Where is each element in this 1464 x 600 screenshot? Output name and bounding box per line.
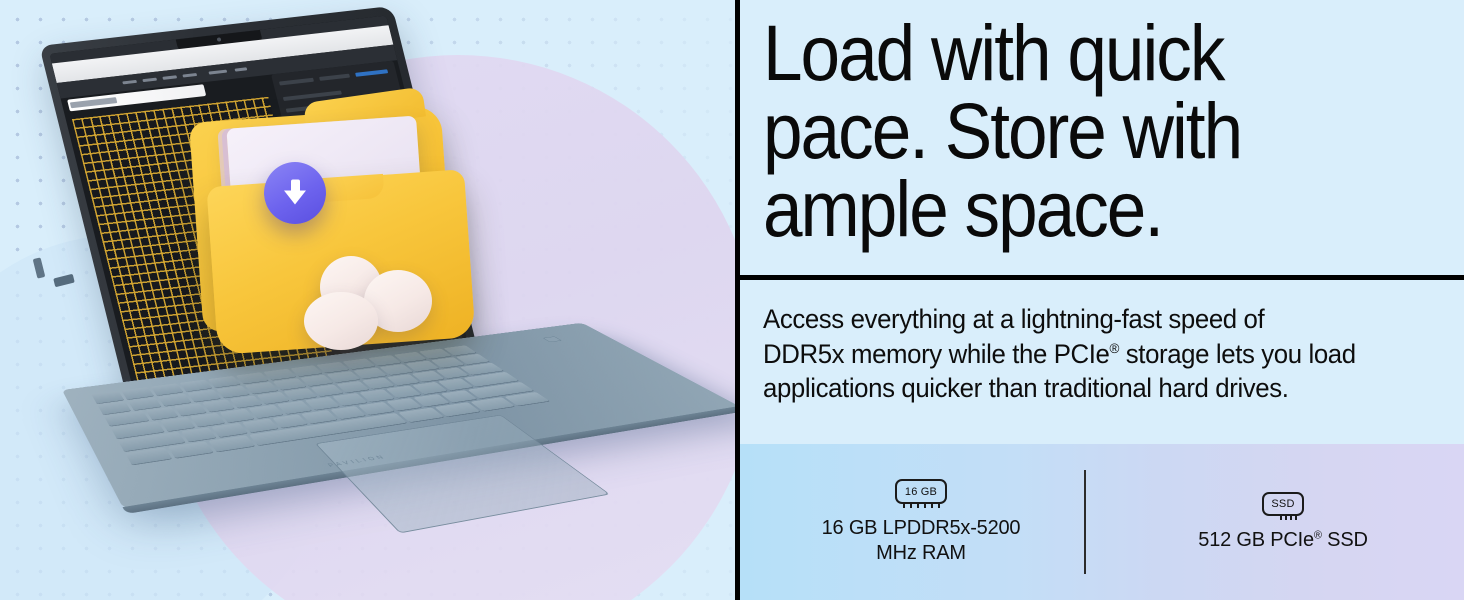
spec-vertical-divider	[1084, 470, 1086, 574]
page-title: Load with quick pace. Store with ample s…	[763, 14, 1241, 249]
spec-storage-label-part2: SSD	[1322, 529, 1368, 551]
memory-module-icon: 16 GB	[895, 479, 947, 504]
cloud-icon	[304, 256, 436, 352]
spec-highlights-strip: 16 GB 16 GB LPDDR5x-5200 MHz RAM SSD 512…	[740, 444, 1464, 600]
download-badge-icon	[264, 162, 326, 224]
spec-ram-label: 16 GB LPDDR5x-5200 MHz RAM	[822, 516, 1021, 565]
spec-storage-label: 512 GB PCIe® SSD	[1198, 528, 1367, 552]
ssd-module-icon: SSD	[1262, 492, 1304, 516]
download-arrow-icon	[284, 179, 306, 205]
registered-mark: ®	[1109, 340, 1119, 356]
product-image-panel: hp PAVILION	[0, 0, 735, 600]
spec-storage-label-part1: 512 GB PCIe	[1198, 529, 1314, 551]
description-section: Access everything at a lightning-fast sp…	[740, 280, 1464, 444]
product-feature-banner: hp PAVILION	[0, 0, 1464, 600]
spec-storage-registered-mark: ®	[1314, 529, 1322, 541]
headline-section: Load with quick pace. Store with ample s…	[740, 0, 1464, 275]
ssd-module-icon-label: SSD	[1271, 498, 1294, 510]
laptop-usb-port	[53, 274, 75, 288]
memory-module-pins	[903, 502, 940, 508]
spec-item-ram: 16 GB 16 GB LPDDR5x-5200 MHz RAM	[740, 479, 1102, 565]
power-button[interactable]	[543, 336, 562, 342]
content-panel: Load with quick pace. Store with ample s…	[735, 0, 1464, 600]
description-text: Access everything at a lightning-fast sp…	[763, 302, 1415, 406]
memory-module-icon-label: 16 GB	[905, 486, 937, 498]
laptop-product-image: hp PAVILION	[38, 8, 718, 598]
webcam-icon	[217, 37, 222, 41]
ssd-module-pins	[1280, 515, 1297, 520]
laptop-touchpad[interactable]	[315, 415, 610, 534]
spec-item-storage: SSD 512 GB PCIe® SSD	[1102, 492, 1464, 552]
folder-3d-graphic	[186, 104, 486, 404]
